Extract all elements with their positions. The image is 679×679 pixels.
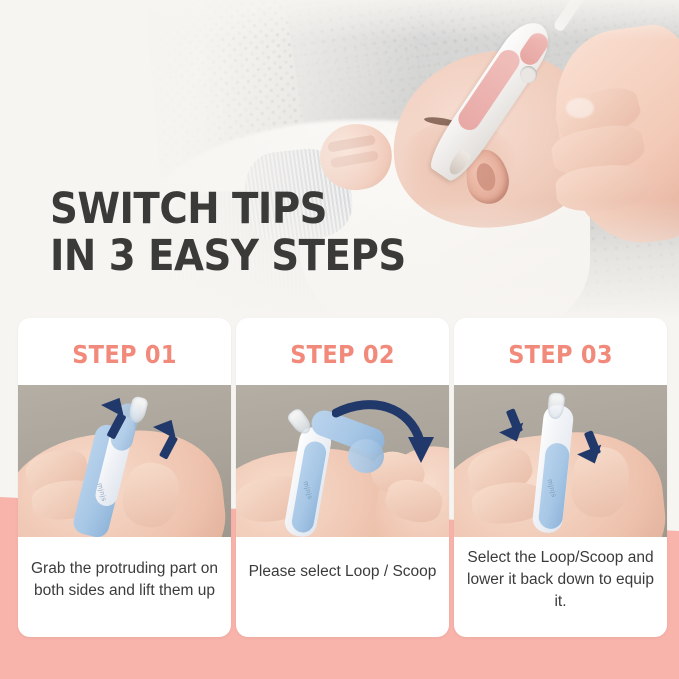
step-card-2[interactable]: STEP 02 mjnjs <box>236 318 449 637</box>
device-tip <box>127 395 149 424</box>
step-1-label: STEP 01 <box>18 318 231 385</box>
headline-line-1: SWITCH TIPS <box>50 186 406 233</box>
step-3-photo: mjnjs <box>454 385 667 537</box>
step-3-label: STEP 03 <box>454 318 667 385</box>
step-2-label: STEP 02 <box>236 318 449 385</box>
steps-container: STEP 01 mjnjs <box>0 318 679 648</box>
step-1-caption: Grab the protruding part on both sides a… <box>18 537 231 637</box>
step-2-caption-text: Please select Loop / Scoop <box>249 561 437 583</box>
step-3-caption-text: Select the Loop/Scoop and lower it back … <box>466 547 655 613</box>
step-card-1[interactable]: STEP 01 mjnjs <box>18 318 231 637</box>
step-1-caption-text: Grab the protruding part on both sides a… <box>30 558 219 602</box>
page-title: SWITCH TIPS IN 3 EASY STEPS <box>50 186 406 280</box>
step-2-caption: Please select Loop / Scoop <box>236 537 449 637</box>
step-2-photo: mjnjs <box>236 385 449 537</box>
step-3-caption: Select the Loop/Scoop and lower it back … <box>454 537 667 637</box>
step-1-photo: mjnjs <box>18 385 231 537</box>
headline-line-2: IN 3 EASY STEPS <box>50 233 406 280</box>
step-card-3[interactable]: STEP 03 mjnjs <box>454 318 667 637</box>
infographic-stage: SWITCH TIPS IN 3 EASY STEPS STEP 01 mjnj… <box>0 0 679 679</box>
